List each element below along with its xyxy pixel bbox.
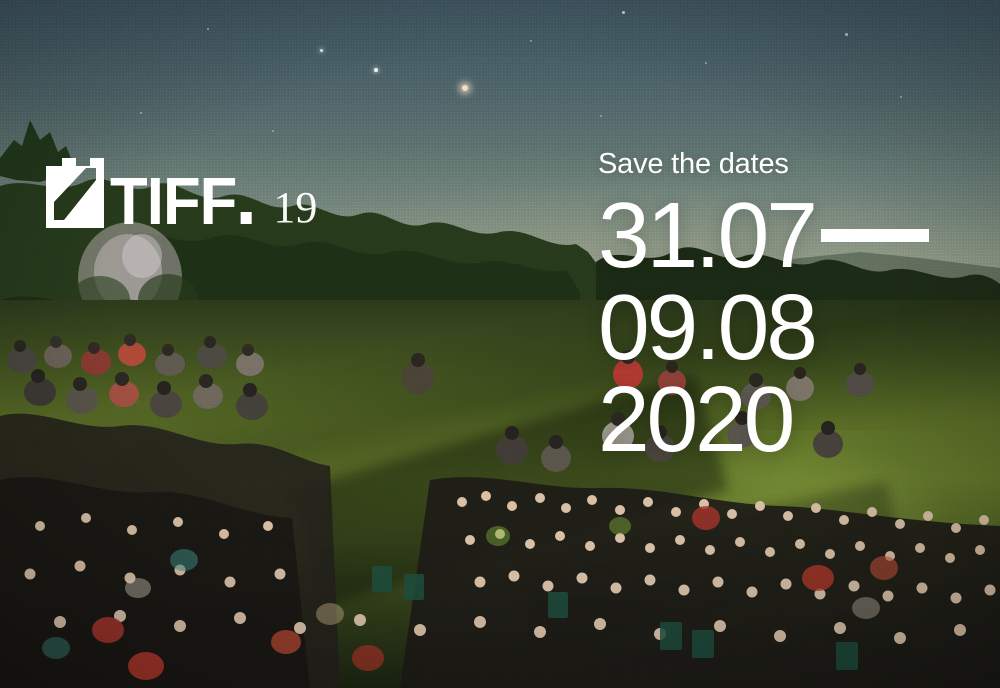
crowd-row-upper-left: [7, 334, 268, 420]
tiff-slash-square-icon: [46, 158, 104, 228]
tiff-wordmark-text: TIFF: [110, 177, 236, 228]
blossom-tree-highlight: [122, 234, 162, 278]
save-the-dates-label: Save the dates: [598, 150, 984, 179]
tiff-logo-lockup[interactable]: TIFF 19: [46, 158, 317, 228]
tiff-wordmark-dot: [241, 212, 252, 224]
date-line-start: 31.07: [598, 189, 984, 281]
save-the-dates-block: Save the dates 31.07 09.08 2020: [598, 150, 984, 465]
date-line-year: 2020: [598, 373, 984, 465]
tiff-edition-year: 19: [273, 186, 317, 230]
date-range-dash: [821, 229, 929, 242]
poster-canvas: TIFF 19 Save the dates 31.07 09.08 2020: [0, 0, 1000, 688]
date-start-text: 31.07: [598, 183, 815, 287]
tiff-wordmark: TIFF: [110, 177, 252, 228]
date-line-end: 09.08: [598, 281, 984, 373]
